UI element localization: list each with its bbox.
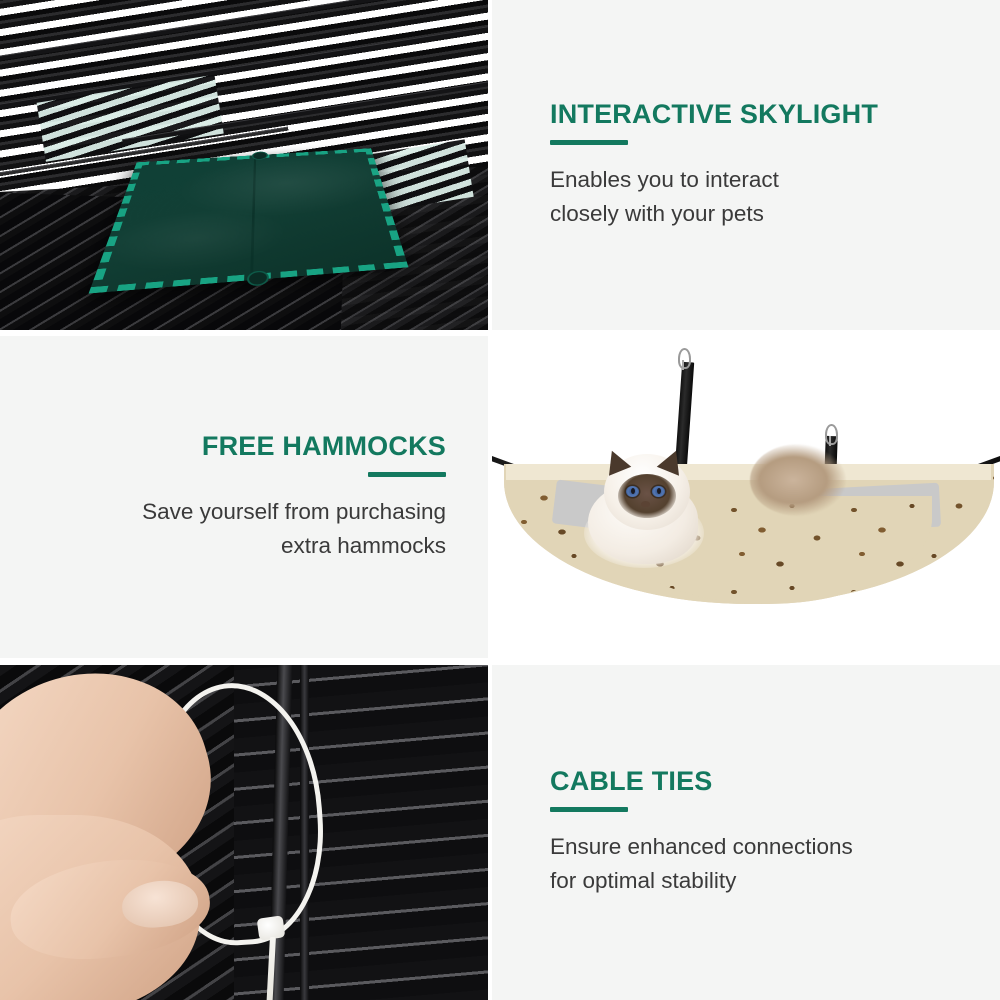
- cat: [588, 448, 728, 578]
- feature-desc-hammocks-line1: Save yourself from purchasing: [0, 495, 446, 529]
- hammock-image-panel: [492, 336, 1000, 658]
- feature-desc-skylight-line2: closely with your pets: [550, 197, 1000, 231]
- feature-desc-cable-ties-line1: Ensure enhanced connections: [550, 830, 1000, 864]
- cat-face-mask: [618, 474, 676, 518]
- feature-title-skylight: INTERACTIVE SKYLIGHT: [550, 100, 1000, 128]
- cable-tie-image-panel: [0, 665, 488, 1000]
- cable-tie-text-panel: CABLE TIES Ensure enhanced connections f…: [492, 665, 1000, 1000]
- cable-tie-text-block: CABLE TIES Ensure enhanced connections f…: [492, 767, 1000, 898]
- skylight-text-panel: INTERACTIVE SKYLIGHT Enables you to inte…: [492, 0, 1000, 330]
- cable-tie-photo: [0, 665, 488, 1000]
- skylight-image-panel: [0, 0, 488, 330]
- skylight-center-seam: [250, 155, 256, 280]
- feature-underline-hammocks: [368, 472, 446, 477]
- cat-eye-left: [626, 486, 639, 497]
- hammock-text-panel: FREE HAMMOCKS Save yourself from purchas…: [0, 336, 488, 658]
- hammock-photo: [492, 336, 1000, 658]
- cat-tail: [750, 444, 846, 516]
- feature-underline-cable-ties: [550, 807, 628, 812]
- feature-desc-hammocks-line2: extra hammocks: [0, 529, 446, 563]
- cage-photo: [0, 0, 488, 330]
- skylight-text-block: INTERACTIVE SKYLIGHT Enables you to inte…: [492, 100, 1000, 231]
- hammock-text-block: FREE HAMMOCKS Save yourself from purchas…: [0, 432, 488, 563]
- hammock-inner-lip: [506, 464, 991, 480]
- skylight-hinge-icon: [251, 151, 267, 160]
- hammock-clip-hook-short: [825, 424, 838, 445]
- feature-desc-cable-ties-line2: for optimal stability: [550, 864, 1000, 898]
- product-feature-infographic: INTERACTIVE SKYLIGHT Enables you to inte…: [0, 0, 1000, 1000]
- cat-eye-right: [652, 486, 665, 497]
- hammock-clip-hook-tall: [678, 348, 691, 369]
- cat-nose: [641, 501, 650, 507]
- feature-desc-skylight-line1: Enables you to interact: [550, 163, 1000, 197]
- feature-title-hammocks: FREE HAMMOCKS: [0, 432, 446, 460]
- feature-underline-skylight: [550, 140, 628, 145]
- feature-title-cable-ties: CABLE TIES: [550, 767, 1000, 795]
